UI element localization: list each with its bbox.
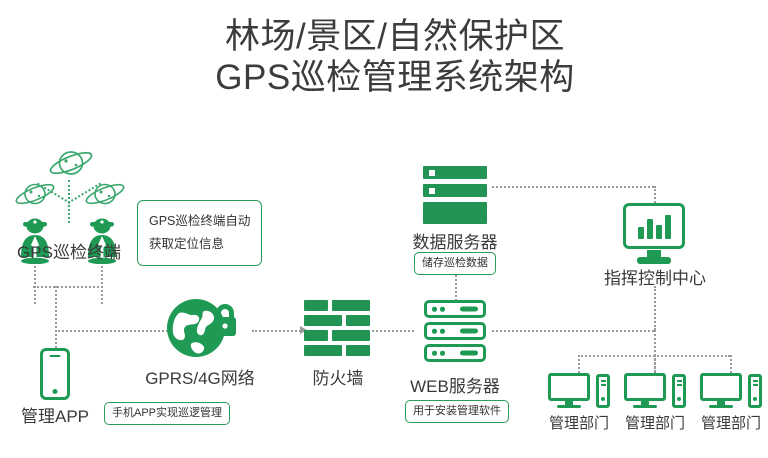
satellite-icon (82, 178, 128, 212)
connector-dept-2 (654, 355, 656, 373)
network-label: GPRS/4G网络 (140, 364, 260, 389)
gps-note-line-1: GPS巡检终端自动 (149, 210, 250, 233)
connector-web-to-bus (492, 330, 654, 332)
connector-officer-join (33, 286, 103, 288)
connector-dept-1 (578, 355, 580, 373)
data-server-icon (423, 166, 487, 229)
title-line-1: 林场/景区/自然保护区 (0, 16, 768, 57)
satellite-icon (12, 178, 58, 212)
management-app-node: 管理APP (5, 402, 105, 427)
title-line-2: GPS巡检管理系统架构 (0, 57, 768, 98)
control-center-label: 指挥控制中心 (596, 264, 714, 289)
department-label: 管理部门 (686, 412, 768, 433)
connector-center-down (654, 286, 656, 330)
web-server-node: WEB服务器 (396, 372, 514, 397)
gps-terminal-label: GPS巡检终端 (0, 238, 138, 263)
gps-note-line-2: 获取定位信息 (149, 233, 250, 256)
management-app-label: 管理APP (5, 402, 105, 427)
desktop-computer-icon (624, 373, 686, 409)
diagram-canvas: 林场/景区/自然保护区 GPS巡检管理系统架构 (0, 0, 768, 458)
web-server-note: 用于安装管理软件 (405, 400, 505, 423)
data-server-note-text: 储存巡检数据 (414, 252, 496, 275)
web-server-note-text: 用于安装管理软件 (405, 400, 509, 423)
web-server-label: WEB服务器 (396, 372, 514, 397)
smartphone-icon (40, 348, 70, 400)
connector-dept-3 (730, 355, 732, 373)
management-app-note: 手机APP实现巡逻管理 (104, 402, 230, 425)
connector-data-to-center-h (492, 186, 654, 188)
brick-wall-icon (304, 300, 370, 360)
firewall-label: 防火墙 (292, 364, 384, 389)
globe-lock-icon (162, 295, 238, 366)
management-app-note-text: 手机APP实现巡逻管理 (104, 402, 230, 425)
connector-bus-down (55, 286, 57, 348)
page-title: 林场/景区/自然保护区 GPS巡检管理系统架构 (0, 16, 768, 99)
gps-note-box: GPS巡检终端自动 获取定位信息 (137, 200, 262, 266)
desktop-computer-icon (700, 373, 762, 409)
department-node-3: 管理部门 (686, 412, 768, 433)
data-server-label: 数据服务器 (396, 228, 514, 253)
server-rack-icon (424, 300, 486, 366)
data-server-note: 储存巡检数据 (405, 252, 505, 275)
connector-firewall-to-web (372, 330, 414, 332)
connector-network-to-firewall (252, 330, 304, 332)
gps-terminal-node: GPS巡检终端 (0, 238, 138, 263)
network-node: GPRS/4G网络 (140, 364, 260, 389)
desktop-computer-icon (548, 373, 610, 409)
firewall-node: 防火墙 (292, 364, 384, 389)
control-center-node: 指挥控制中心 (596, 264, 714, 289)
data-server-node: 数据服务器 (396, 228, 514, 253)
monitor-chart-icon (623, 203, 685, 264)
